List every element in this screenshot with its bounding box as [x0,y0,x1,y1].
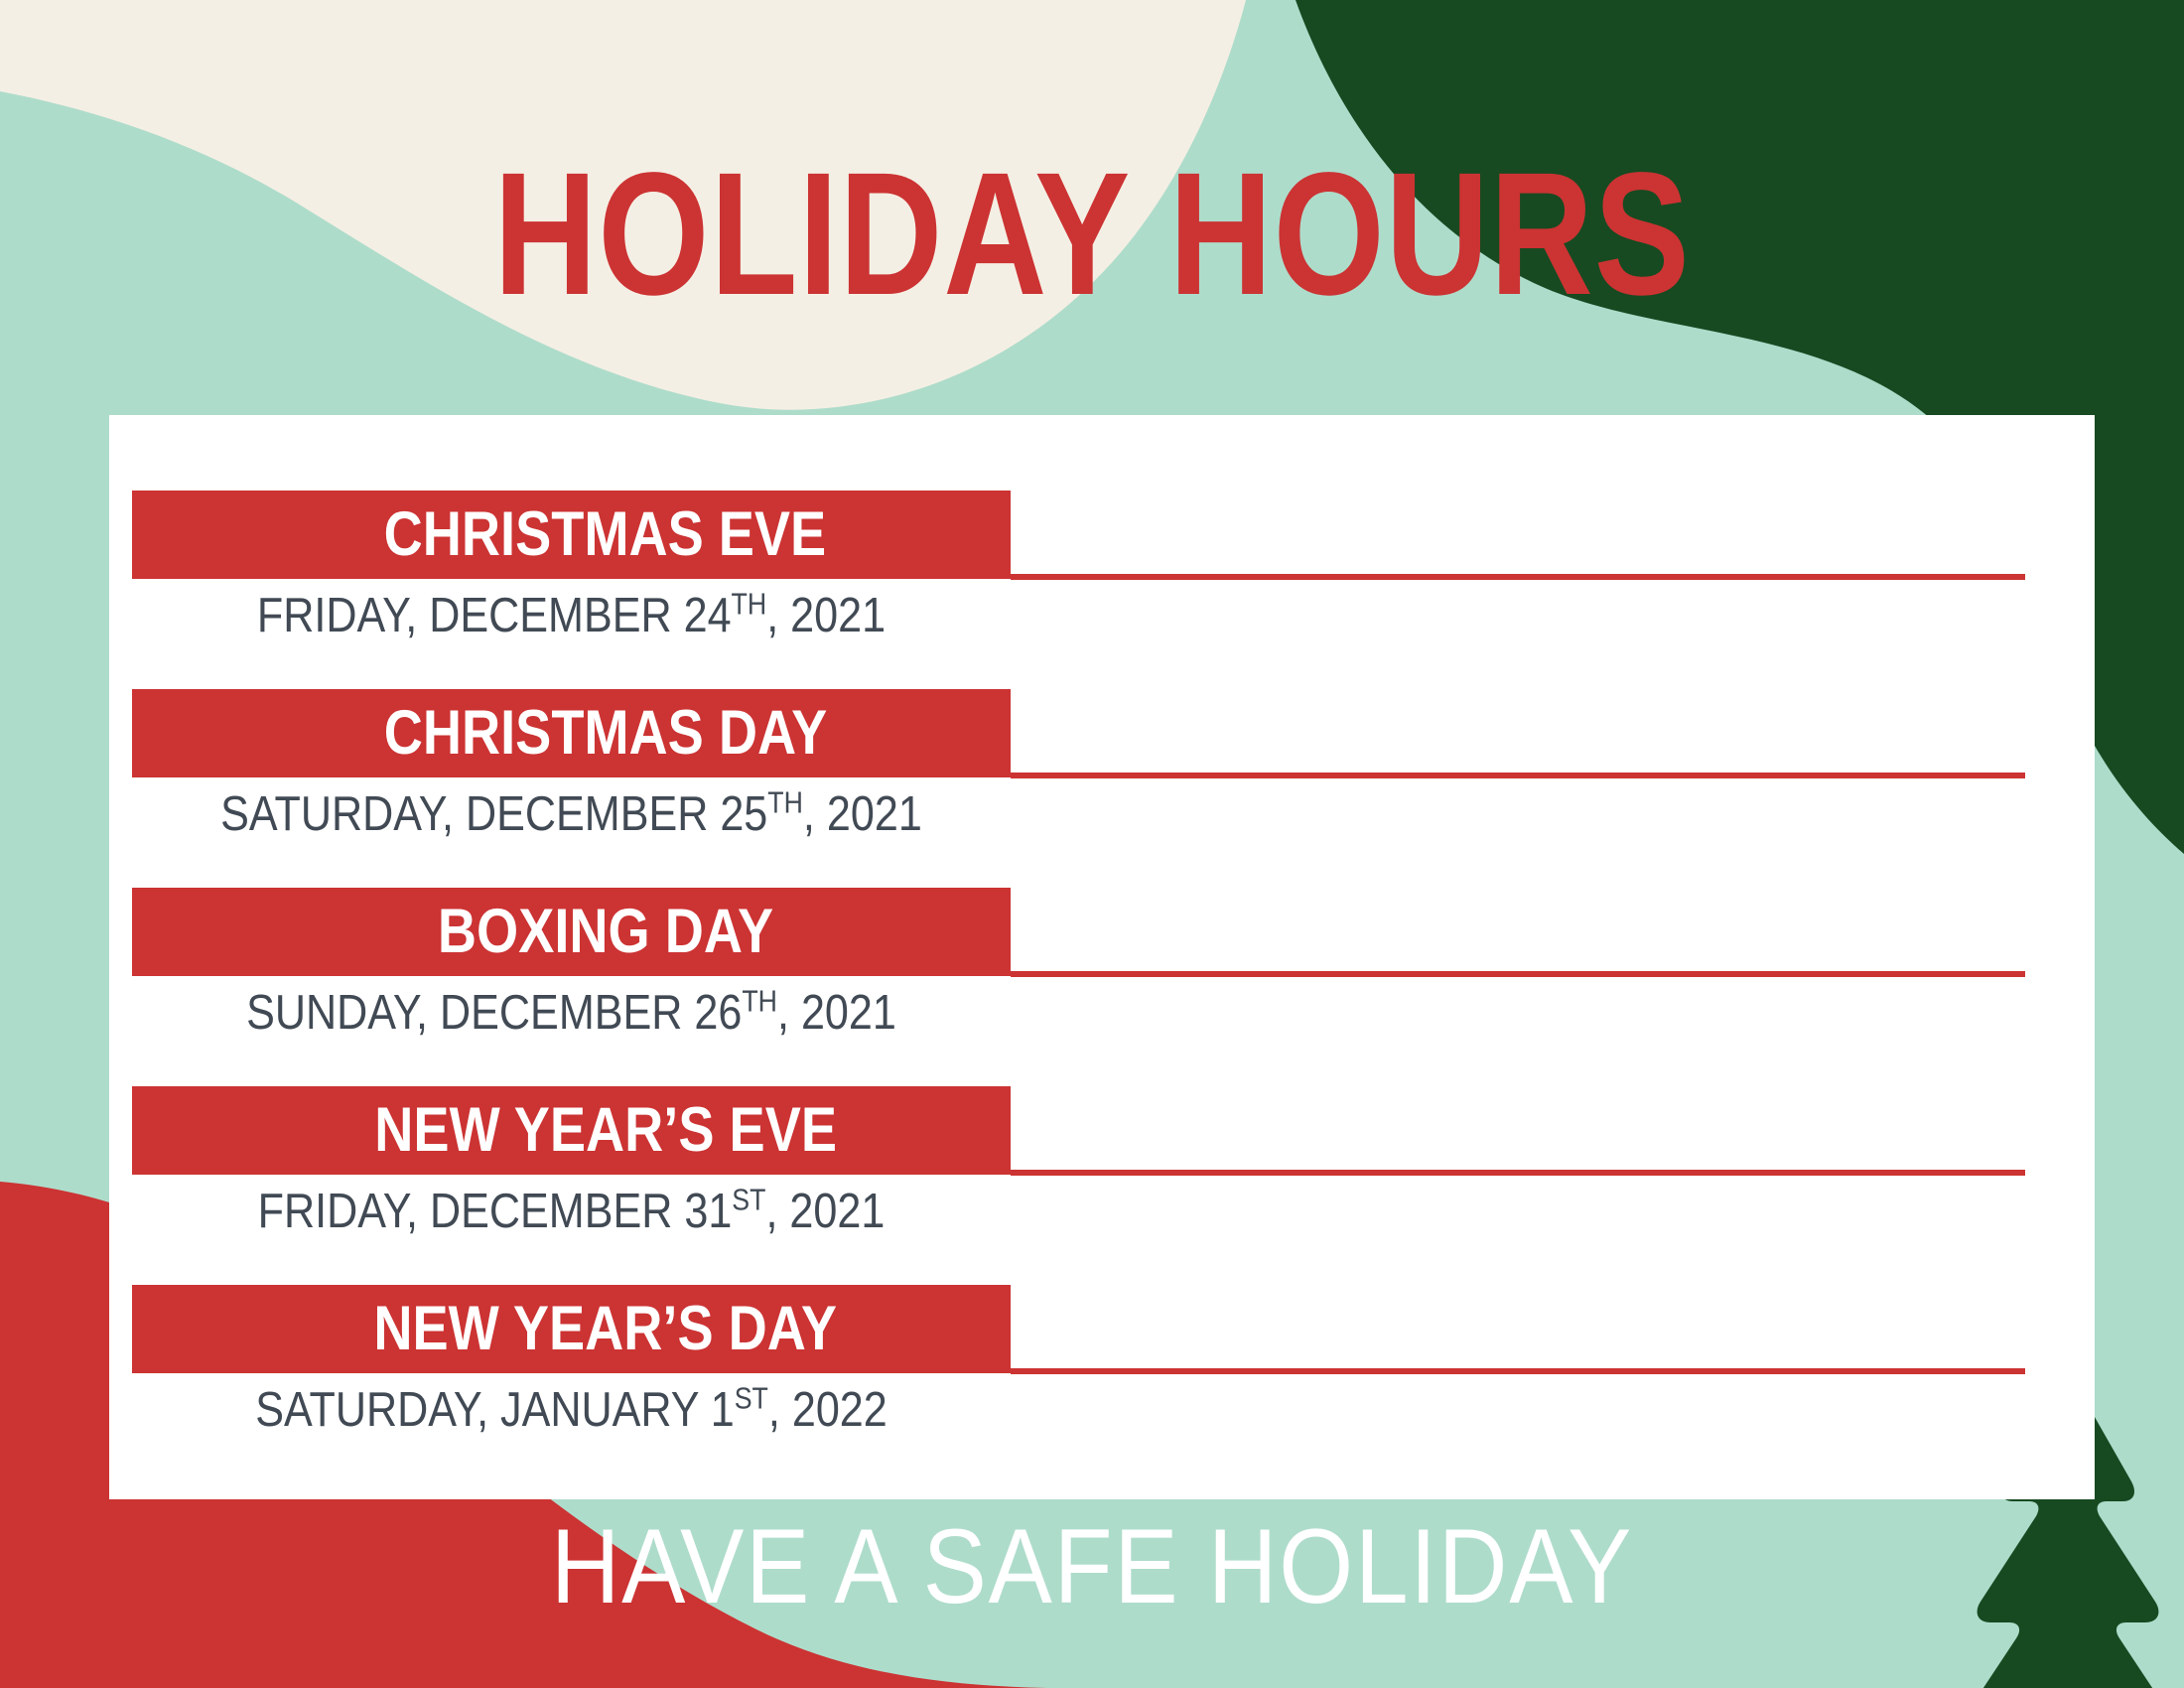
holiday-name-bar: CHRISTMAS EVE [132,491,1011,579]
holiday-row-bar-group: NEW YEAR’S EVE [132,1086,2025,1180]
hours-write-in-rule[interactable] [1011,1368,2025,1374]
holiday-date-year: , 2022 [768,1383,887,1437]
holiday-name-label: NEW YEAR’S EVE [306,1099,836,1162]
holiday-name-bar: BOXING DAY [132,888,1011,976]
holiday-date-ordinal: ST [735,1382,768,1416]
holiday-row-bar-group: CHRISTMAS EVE [132,491,2025,584]
holiday-row: BOXING DAY SUNDAY, DECEMBER 26TH, 2021 [109,812,2095,1011]
holiday-name-label: CHRISTMAS EVE [316,503,826,566]
holiday-row-bar-group: BOXING DAY [132,888,2025,981]
holiday-name-bar: NEW YEAR’S EVE [132,1086,1011,1175]
holiday-rows-list: CHRISTMAS EVE FRIDAY, DECEMBER 24TH, 202… [109,415,2095,1420]
tagline: HAVE A SAFE HOLIDAY [109,1513,2075,1619]
holiday-name-label: BOXING DAY [369,901,773,963]
holiday-row-bar-group: CHRISTMAS DAY [132,689,2025,782]
holiday-hours-poster: HOLIDAY HOURS CHRISTMAS EVE FRIDAY, DECE… [0,0,2184,1688]
holiday-name-bar: CHRISTMAS DAY [132,689,1011,777]
holiday-name-label: NEW YEAR’S DAY [306,1298,837,1360]
holiday-row: CHRISTMAS DAY SATURDAY, DECEMBER 25TH, 2… [109,614,2095,812]
holiday-date-weekday: SATURDAY, JANUARY 1 [255,1383,734,1437]
hours-write-in-rule[interactable] [1011,574,2025,580]
holiday-row: NEW YEAR’S DAY SATURDAY, JANUARY 1ST, 20… [109,1209,2095,1420]
holiday-name-bar: NEW YEAR’S DAY [132,1285,1011,1373]
holiday-row: NEW YEAR’S EVE FRIDAY, DECEMBER 31ST, 20… [109,1011,2095,1209]
holiday-row-bar-group: NEW YEAR’S DAY [132,1285,2025,1378]
page-title: HOLIDAY HOURS [197,147,1987,322]
hours-write-in-rule[interactable] [1011,1170,2025,1176]
hours-write-in-rule[interactable] [1011,773,2025,778]
holiday-row: CHRISTMAS EVE FRIDAY, DECEMBER 24TH, 202… [109,415,2095,614]
hours-write-in-rule[interactable] [1011,971,2025,977]
holiday-date: SATURDAY, JANUARY 1ST, 2022 [185,1386,958,1435]
holiday-name-label: CHRISTMAS DAY [316,702,827,765]
